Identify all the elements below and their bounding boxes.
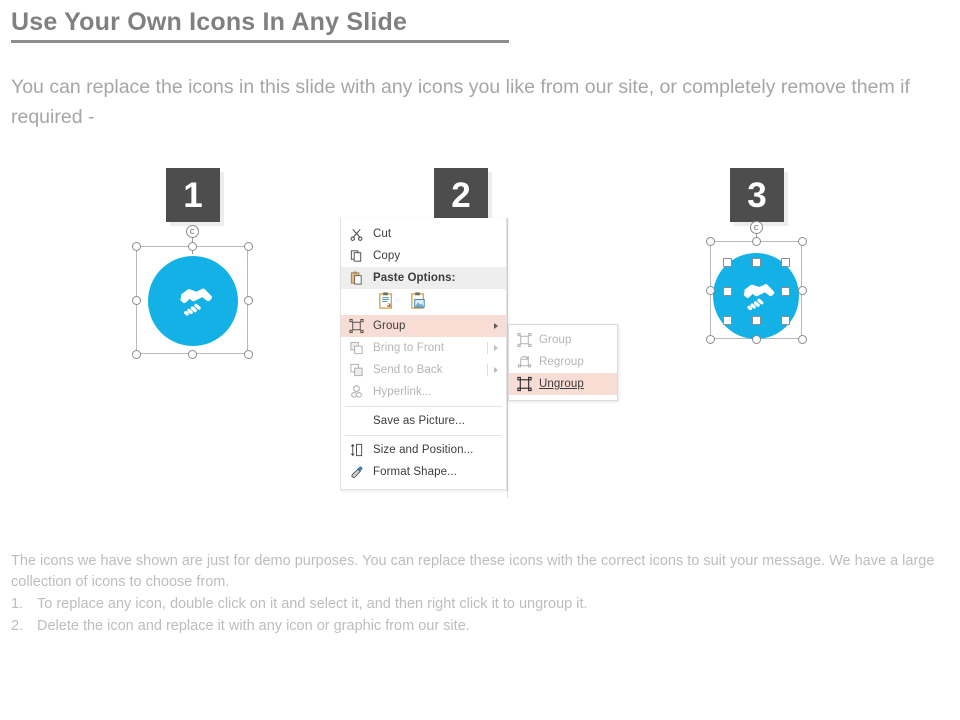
footer-list-number: 2.	[11, 616, 37, 637]
menu-item-bring-to-front[interactable]: Bring to Front	[341, 337, 506, 359]
menu-item-divider	[487, 342, 488, 354]
chevron-right-icon	[494, 367, 498, 373]
ungroup-icon	[516, 376, 533, 393]
selection-handle-sw-3[interactable]	[706, 335, 715, 344]
copy-icon	[348, 248, 365, 265]
svg-text:a: a	[387, 300, 391, 309]
inner-handle-sw-3[interactable]	[723, 316, 732, 325]
menu-item-label: Group	[373, 320, 405, 332]
menu-item-label: Cut	[373, 228, 391, 240]
selection-handle-e-3[interactable]	[798, 286, 807, 295]
selection-handle-nw-3[interactable]	[706, 237, 715, 246]
selection-handle-n-3[interactable]	[752, 237, 761, 246]
selection-handle-e-1[interactable]	[244, 296, 253, 305]
footer-notes: The icons we have shown are just for dem…	[11, 551, 946, 637]
selection-handle-n-1[interactable]	[188, 242, 197, 251]
selection-handle-w-1[interactable]	[132, 296, 141, 305]
page-subtitle: You can replace the icons in this slide …	[11, 72, 953, 132]
rotation-handle-1[interactable]	[186, 225, 199, 238]
step-badge-3: 3	[730, 168, 784, 222]
regroup-icon	[516, 354, 533, 371]
bring-to-front-icon	[348, 340, 365, 357]
step-badge-1: 1	[166, 168, 220, 222]
no-icon	[348, 413, 365, 430]
selection-handle-s-1[interactable]	[188, 350, 197, 359]
footer-list-text: To replace any icon, double click on it …	[37, 594, 588, 615]
inner-handle-ne-3[interactable]	[781, 258, 790, 267]
menu-item-label: Send to Back	[373, 364, 443, 376]
handshake-icon-1[interactable]	[148, 256, 238, 346]
inner-handle-nw-3[interactable]	[723, 258, 732, 267]
menu-item-group[interactable]: Group	[341, 315, 506, 337]
selection-handle-nw-1[interactable]	[132, 242, 141, 251]
selection-handle-w-3[interactable]	[706, 286, 715, 295]
group-icon	[348, 318, 365, 335]
menu-item-label: Copy	[373, 250, 400, 262]
title-underline	[11, 40, 509, 43]
menu-item-label: Paste Options:	[373, 272, 456, 284]
footer-paragraph: The icons we have shown are just for dem…	[11, 551, 946, 593]
footer-list-item: 1. To replace any icon, double click on …	[11, 594, 946, 615]
selection-handle-s-3[interactable]	[752, 335, 761, 344]
selection-handle-ne-1[interactable]	[244, 242, 253, 251]
menu-item-copy[interactable]: Copy	[341, 245, 506, 267]
menu-item-divider	[487, 364, 488, 376]
submenu-item-ungroup[interactable]: Ungroup	[509, 373, 617, 395]
selection-handle-ne-3[interactable]	[798, 237, 807, 246]
menu-item-format-shape[interactable]: Format Shape...	[341, 461, 506, 483]
inner-handle-n-3[interactable]	[752, 258, 761, 267]
hyperlink-icon	[348, 384, 365, 401]
menu-item-send-to-back[interactable]: Send to Back	[341, 359, 506, 381]
step-badge-2: 2	[434, 168, 488, 222]
paste-picture-icon[interactable]	[409, 291, 428, 313]
menu-item-label: Save as Picture...	[373, 415, 465, 427]
menu-item-label: Bring to Front	[373, 342, 444, 354]
paste-icon	[348, 270, 365, 287]
paste-keep-source-formatting-icon[interactable]: a	[377, 291, 396, 313]
menu-separator	[345, 435, 502, 436]
menu-item-save-as-picture[interactable]: Save as Picture...	[341, 410, 506, 432]
submenu-item-label: Regroup	[539, 356, 584, 368]
footer-list-number: 1.	[11, 594, 37, 615]
menu-separator	[345, 406, 502, 407]
send-to-back-icon	[348, 362, 365, 379]
selection-handle-se-3[interactable]	[798, 335, 807, 344]
chevron-right-icon	[494, 345, 498, 351]
footer-list-text: Delete the icon and replace it with any …	[37, 616, 470, 637]
inner-handle-se-3[interactable]	[781, 316, 790, 325]
submenu-item-label: Ungroup	[539, 378, 584, 390]
chevron-right-icon	[494, 323, 498, 329]
menu-item-paste-options: Paste Options:	[341, 267, 506, 289]
menu-item-label: Hyperlink...	[373, 386, 432, 398]
group-icon	[516, 332, 533, 349]
menu-item-label: Format Shape...	[373, 466, 457, 478]
context-menu[interactable]: Cut Copy Paste Options:	[340, 218, 507, 490]
selection-handle-se-1[interactable]	[244, 350, 253, 359]
size-position-icon	[348, 442, 365, 459]
menu-item-cut[interactable]: Cut	[341, 223, 506, 245]
menu-item-hyperlink[interactable]: Hyperlink...	[341, 381, 506, 403]
footer-list-item: 2. Delete the icon and replace it with a…	[11, 616, 946, 637]
scissors-icon	[348, 226, 365, 243]
submenu-item-label: Group	[539, 334, 571, 346]
format-shape-icon	[348, 464, 365, 481]
paste-options-row[interactable]: a	[341, 289, 506, 315]
inner-handle-e-3[interactable]	[781, 287, 790, 296]
page-title: Use Your Own Icons In Any Slide	[11, 8, 407, 37]
inner-handle-w-3[interactable]	[723, 287, 732, 296]
submenu-item-group[interactable]: Group	[509, 329, 617, 351]
rotation-handle-3[interactable]	[750, 221, 763, 234]
group-submenu[interactable]: Group Regroup	[508, 324, 618, 401]
menu-item-label: Size and Position...	[373, 444, 473, 456]
inner-handle-s-3[interactable]	[752, 316, 761, 325]
menu-item-size-and-position[interactable]: Size and Position...	[341, 439, 506, 461]
submenu-item-regroup[interactable]: Regroup	[509, 351, 617, 373]
selection-handle-sw-1[interactable]	[132, 350, 141, 359]
